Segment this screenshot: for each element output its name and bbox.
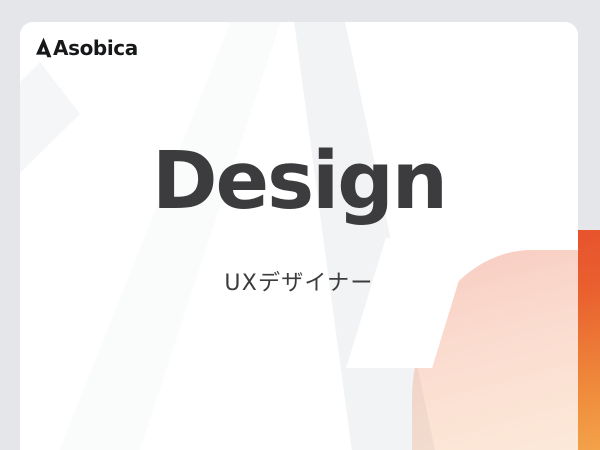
page-title: Design [20, 140, 578, 223]
content-card: Asobica Design UXデザイナー [20, 22, 578, 450]
slide-canvas: Asobica Design UXデザイナー [0, 0, 600, 450]
asobica-a-logomark-icon [35, 37, 52, 58]
page-subtitle: UXデザイナー [20, 223, 578, 295]
brand-name-text: Asobica [53, 38, 138, 58]
brand-logo: Asobica [35, 37, 138, 58]
headline-block: Design UXデザイナー [20, 140, 578, 295]
